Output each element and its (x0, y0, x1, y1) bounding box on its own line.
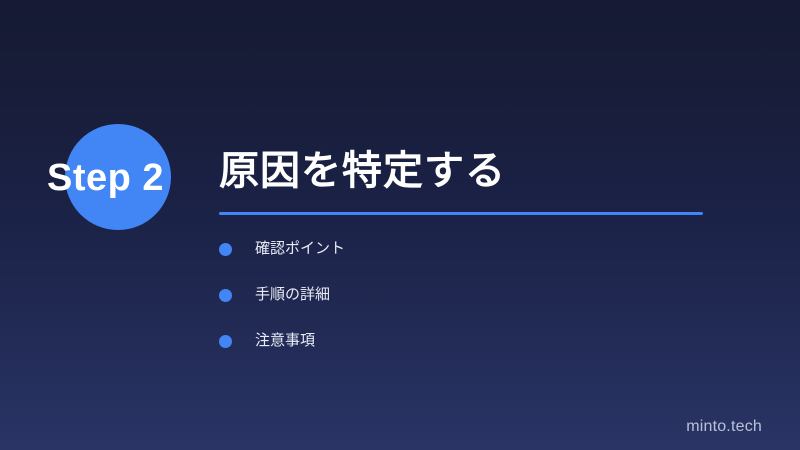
step-label: Step 2 (47, 155, 207, 201)
bullet-dot-icon (219, 243, 232, 256)
list-item-label: 注意事項 (255, 331, 315, 351)
footer-brand: minto.tech (686, 418, 762, 436)
bullet-list: 確認ポイント 手順の詳細 注意事項 (219, 239, 345, 351)
bullet-dot-icon (219, 289, 232, 302)
list-item: 注意事項 (219, 331, 345, 351)
list-item: 手順の詳細 (219, 285, 345, 305)
bullet-dot-icon (219, 335, 232, 348)
presentation-slide: Step 2 原因を特定する 確認ポイント 手順の詳細 注意事項 minto.t… (0, 0, 800, 450)
title-divider (219, 212, 703, 215)
page-title: 原因を特定する (219, 146, 506, 196)
list-item-label: 確認ポイント (255, 239, 345, 259)
list-item-label: 手順の詳細 (255, 285, 330, 305)
list-item: 確認ポイント (219, 239, 345, 259)
